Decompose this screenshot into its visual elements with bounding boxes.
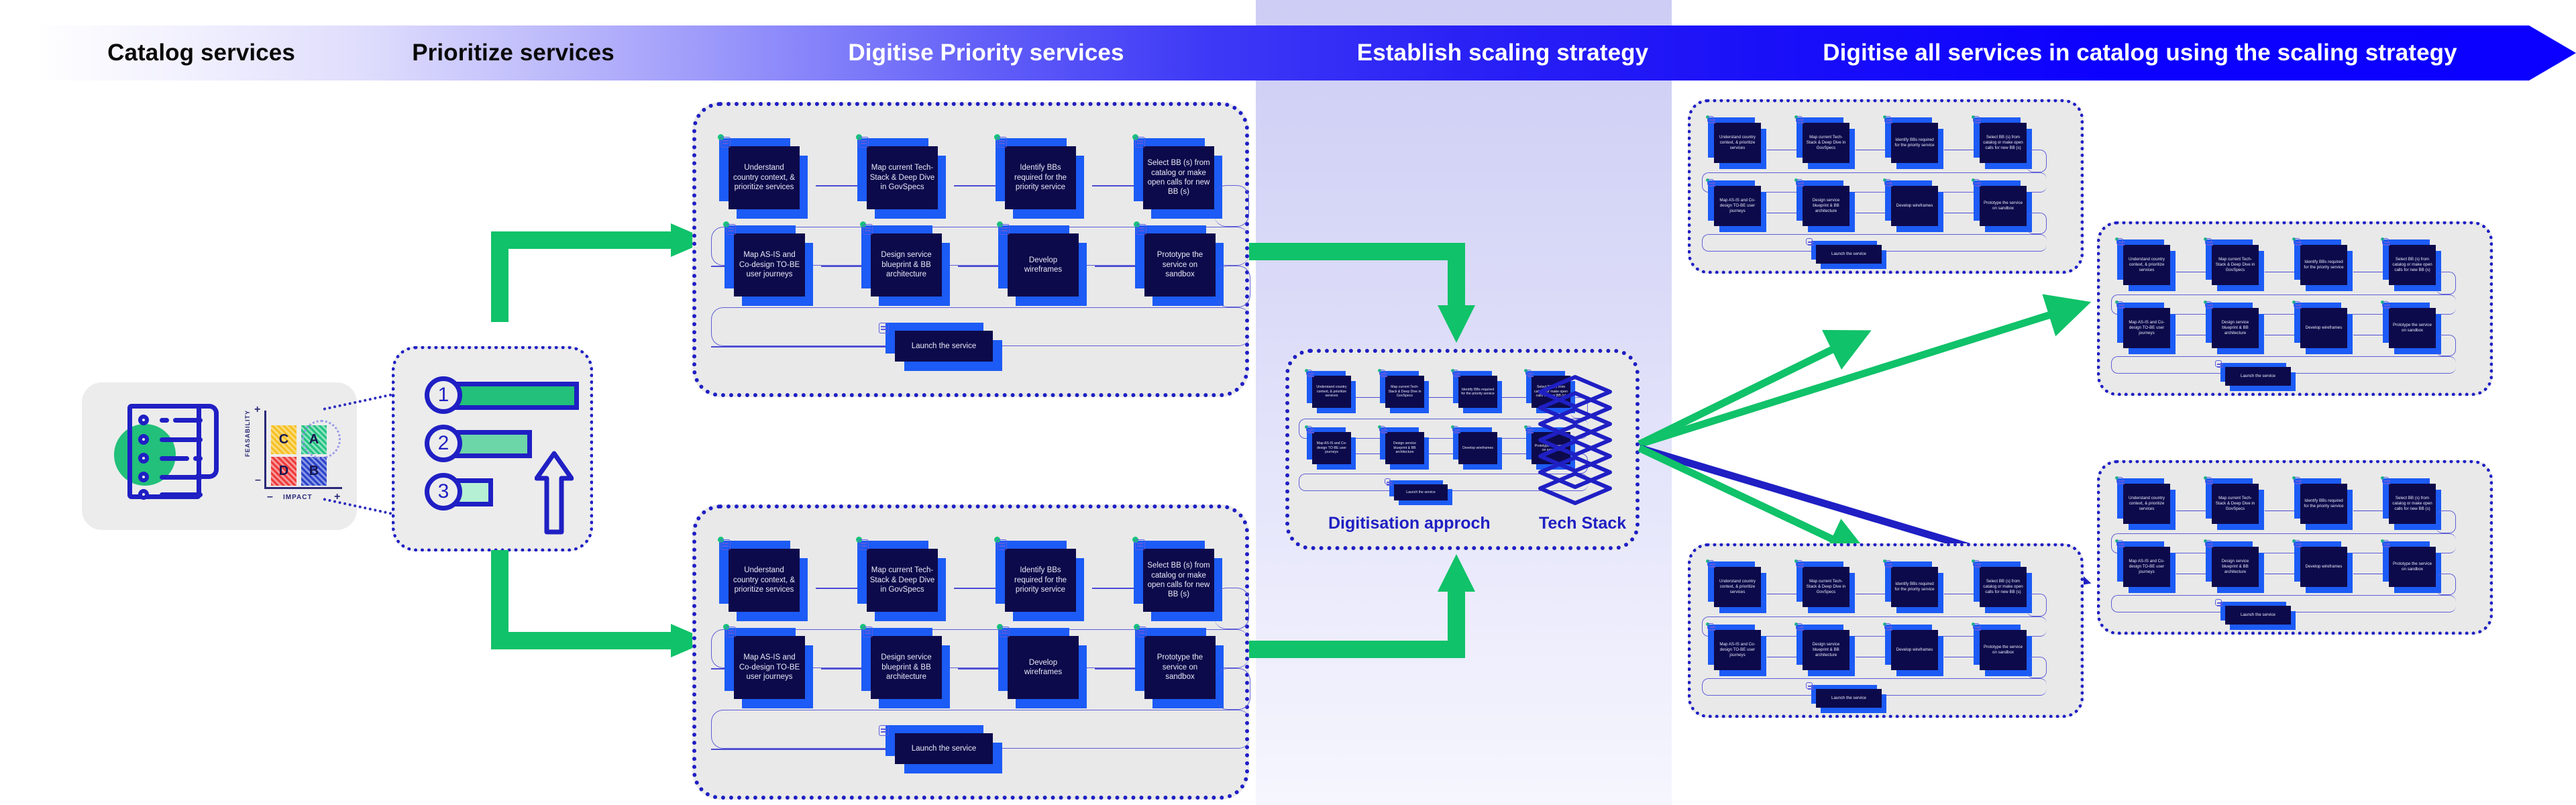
tech-stack-icon [1535,373,1615,507]
flow-step-label: Launch the service [895,733,993,764]
document-list-icon [718,535,733,551]
sandbox-icon [1972,177,1981,186]
mini-flow-connector [2353,272,2387,272]
hand-select-icon [1132,535,1147,551]
green-arrow-to-scaling-bot-h [1249,641,1465,658]
compass-icon [1794,558,1804,568]
diagram-canvas: Catalog services Prioritize services Dig… [0,0,2576,805]
mini-flow-step-label: Identify BBs required for the priority s… [1458,376,1497,408]
flow-panel-top: Understand country context, & prioritize… [692,102,1249,397]
magnifier-icon [2292,475,2302,484]
digitisation-approach-label: Digitisation approch [1328,514,1491,533]
checklist-line [160,475,203,480]
mini-flow-step-label: Design service blueprint & BB architectu… [1803,186,1849,226]
mini-flow-connector [1856,594,1889,594]
mini-flow-connector [2176,272,2210,272]
mini-flow-step-label: Select BB (s) from catalog or make open … [1980,567,2027,607]
scaled-flow-panel-3: Understand country context, & prioritize… [2097,460,2493,635]
priority-up-arrow-icon [535,450,574,536]
magnifier-icon [994,535,1009,551]
mini-flow-connector [2176,511,2210,511]
compass-icon [856,133,871,149]
flow-connector [711,749,892,750]
flow-step-label: Select BB (s) from catalog or make open … [1143,146,1214,209]
checklist-bullet-icon [138,453,149,464]
mini-flow-step-label: Understand country context, & prioritize… [1714,567,1761,607]
flow-panel-bottom: Understand country context, & prioritize… [692,504,1249,800]
checklist-row [91,475,145,480]
magnifier-icon [1883,558,1892,568]
blueprint-icon [860,623,875,639]
wireframe-icon [1883,621,1892,631]
hand-select-icon [1972,114,1981,123]
mini-flow-step-label: Identify BBs required for the priority s… [2300,245,2347,285]
mini-flow-step-label: Understand country context, & prioritize… [2123,484,2170,524]
document-list-icon [1706,114,1715,123]
banner-segment-catalog[interactable]: Catalog services [40,25,362,80]
mini-flow-step-label: Develop wireframes [1891,186,1938,226]
blueprint-icon [2204,538,2213,547]
mini-flow-connector [1856,150,1889,150]
wireframe-icon [2292,299,2302,309]
user-journey-icon [1706,177,1715,186]
user-journey-icon [2115,299,2125,309]
mini-flow-step-label: Identify BBs required for the priority s… [1891,123,1938,163]
mini-flow-step-label: Develop wireframes [1891,630,1938,670]
mini-flow-step-label: Launch the service [2225,367,2291,386]
checklist-bullet-icon [138,434,149,445]
mini-flow-connector [2265,335,2298,335]
priority-bar-2 [451,430,532,458]
banner-segment-digitise-priority[interactable]: Digitise Priority services [684,25,1288,80]
mini-flow-connector [1767,657,1801,657]
sandbox-icon [2381,538,2390,547]
wireframe-icon [1451,424,1460,433]
compass-icon [2204,236,2213,246]
flow-step-label: Design service blueprint & BB architectu… [871,636,942,699]
checklist-line [193,456,203,461]
mini-flow-step-label: Launch the service [1816,245,1882,264]
mini-flow-connector [1767,594,1801,594]
hand-select-icon [2381,475,2390,484]
scaled-flow-panel-4: Understand country context, & prioritize… [1688,543,2084,718]
flow-step-label: Understand country context, & prioritize… [729,549,800,612]
hand-select-icon [1524,368,1533,376]
checklist-line [160,437,203,442]
hand-select-icon [2381,236,2390,246]
checklist-row [91,437,145,442]
fanout-arrow-green-1 [1640,338,1856,444]
green-arrow-to-scaling-bot-head [1438,554,1475,592]
mini-uturn-right [2436,272,2456,294]
flow-step-label: Map current Tech-Stack & Deep Dive in Go… [867,549,938,612]
flow-uturn-right [1214,588,1249,629]
sandbox-icon [1972,621,1981,631]
impact-feasibility-matrix: + – – + FEASABILITY IMPACT C A D B [236,407,343,507]
mini-flow-step-label: Identify BBs required for the priority s… [2300,484,2347,524]
flow-step-label: Understand country context, & prioritize… [729,146,800,209]
rocket-icon [1385,478,1392,486]
document-list-icon [1706,558,1715,568]
magnifier-icon [1451,368,1460,376]
mini-flow-step-label: Prototype the service on sandbox [2389,308,2436,348]
rocket-icon [2215,599,2223,607]
blueprint-icon [1794,177,1804,186]
mini-flow-connector [2176,335,2210,335]
mini-flow-connector [1944,594,1978,594]
scaled-flow-panel-1: Understand country context, & prioritize… [1688,99,2084,274]
banner-segment-establish-scaling[interactable]: Establish scaling strategy [1268,25,1737,80]
flow-step-label: Select BB (s) from catalog or make open … [1143,549,1214,612]
matrix-y-plus: + [254,404,260,416]
mini-flow-step-label: Launch the service [1394,484,1448,500]
mini-flow-step-label: Understand country context, & prioritize… [1714,123,1761,163]
mini-flow-connector [2265,574,2298,574]
mini-flow-step-label: Map current Tech-Stack & Deep Dive in Go… [2212,245,2259,285]
mini-flow-connector [2265,511,2298,511]
flow-step-label: Launch the service [895,331,993,362]
hand-select-icon [1972,558,1981,568]
mini-uturn-right-2 [2027,213,2047,234]
mini-uturn-right-2 [2436,574,2456,595]
flow-step-label: Prototype the service on sandbox [1144,636,1216,699]
banner-label-digitise-priority: Digitise Priority services [848,40,1124,66]
banner-label-prioritize: Prioritize services [412,40,614,66]
blueprint-icon [1378,424,1387,433]
green-arrow-up-horizontal [491,231,672,249]
mini-flow-step-label: Map current Tech-Stack & Deep Dive in Go… [1803,123,1849,163]
matrix-quadrant-d: D [271,457,297,486]
green-arrow-to-scaling-bot-v [1448,590,1465,658]
mini-uturn-right [2436,511,2456,533]
mini-flow-connector [2265,272,2298,272]
mini-flow-step-label: Design service blueprint & BB architectu… [1385,432,1424,464]
blueprint-icon [860,220,875,236]
mini-flow-step-label: Map AS-IS and Co-design TO-BE user journ… [1714,186,1761,226]
mini-flow-step-label: Select BB (s) from catalog or make open … [2389,484,2436,524]
compass-icon [856,535,871,551]
mini-flow-step-label: Map AS-IS and Co-design TO-BE user journ… [1714,630,1761,670]
mini-flow-step-label: Design service blueprint & BB architectu… [2212,547,2259,587]
magnifier-icon [1883,114,1892,123]
mini-flow-connector [2353,335,2387,335]
mini-flow-connector [1767,150,1801,150]
checklist-line [160,492,203,497]
rocket-icon [2215,360,2223,368]
prioritized-services-panel: 1 2 3 [392,346,593,551]
fanout-arrow-green-2 [1640,307,2074,444]
mini-flow-step-label: Prototype the service on sandbox [1980,630,2027,670]
green-arrow-to-scaling-top-h [1249,243,1465,260]
banner-label-catalog: Catalog services [107,40,295,66]
user-journey-icon [1706,621,1715,631]
mini-flow-step-label: Understand country context, & prioritize… [1312,376,1351,408]
matrix-y-axis [264,411,266,488]
matrix-highlight-circle-icon [302,420,341,459]
checklist-bullet-icon [138,472,149,482]
checklist-line [160,418,169,423]
mini-uturn-right-2 [2436,335,2456,356]
flow-step-label: Prototype the service on sandbox [1144,233,1216,297]
user-journey-icon [1305,424,1313,433]
banner-segment-digitise-all[interactable]: Digitise all services in catalog using t… [1744,25,2536,80]
matrix-x-minus: – [267,491,273,503]
matrix-x-axis [264,487,342,489]
flow-connector [711,346,892,347]
mini-flow-step-label: Map current Tech-Stack & Deep Dive in Go… [1803,567,1849,607]
compass-icon [1378,368,1387,376]
flow-step-label: Identify BBs required for the priority s… [1005,146,1076,209]
green-arrow-to-scaling-top-head [1438,305,1475,343]
mini-flow-step-label: Identify BBs required for the priority s… [1891,567,1938,607]
phase-banner: Catalog services Prioritize services Dig… [40,25,2576,80]
mini-flow-step-label: Prototype the service on sandbox [2389,547,2436,587]
matrix-quadrant-c: C [271,425,297,454]
checklist-bullet-icon [138,415,149,425]
flow-uturn-right [1214,185,1249,227]
checklist-row [91,456,145,461]
flow-step-label: Map AS-IS and Co-design TO-BE user journ… [734,233,805,297]
flow-uturn-right-2 [1216,668,1250,710]
mini-flow-connector [1944,150,1978,150]
mini-flow-step-label: Launch the service [1816,689,1882,708]
compass-icon [2204,475,2213,484]
rocket-icon [876,721,891,737]
matrix-y-minus: – [255,474,261,486]
mini-flow-connector [2176,574,2210,574]
rocket-icon [1806,238,1814,246]
compass-icon [1794,114,1804,123]
mini-flow-step-label: Develop wireframes [2300,547,2347,587]
fanout-arrow-green-3 [1640,448,1856,550]
document-list-icon [2115,475,2125,484]
mini-flow-step-label: Map current Tech-Stack & Deep Dive in Go… [2212,484,2259,524]
mini-flow-connector [1856,657,1889,657]
banner-label-establish-scaling: Establish scaling strategy [1357,40,1648,66]
checklist-line [173,418,203,423]
sandbox-icon [1134,623,1148,639]
priority-bar-1 [451,382,579,410]
mini-uturn-right [2027,150,2047,172]
green-arrow-down-horizontal [491,632,672,649]
matrix-quadrant-b: B [301,457,327,486]
checklist-bullet-icon [138,489,149,500]
wireframe-icon [997,220,1012,236]
priority-number-3: 3 [425,473,462,511]
flow-step-label: Map AS-IS and Co-design TO-BE user journ… [734,636,805,699]
green-arrow-to-scaling-top-v [1448,243,1465,310]
tech-stack-label: Tech Stack [1539,514,1626,533]
hand-select-icon [1132,133,1147,149]
checklist-row [91,492,145,497]
mini-flow-connector [2353,574,2387,574]
user-journey-icon [723,220,738,236]
flow-step-label: Map current Tech-Stack & Deep Dive in Go… [867,146,938,209]
catalog-illustration-card: + – – + FEASABILITY IMPACT C A D B [82,382,357,530]
wireframe-icon [1883,177,1892,186]
user-journey-icon [723,623,738,639]
mini-flow-step-label: Select BB (s) from catalog or make open … [1980,123,2027,163]
document-list-icon [2115,236,2125,246]
scaled-flow-panel-2: Understand country context, & prioritize… [2097,221,2493,396]
flow-uturn-right-2 [1216,266,1250,307]
mini-flow-step-label: Map AS-IS and Co-design TO-BE user journ… [1312,432,1351,464]
mini-flow-connector [1944,213,1978,213]
mini-flow-step-label: Prototype the service on sandbox [1980,186,2027,226]
blueprint-icon [2204,299,2213,309]
sandbox-icon [2381,299,2390,309]
rocket-icon [876,319,891,335]
mini-flow-step-label: Design service blueprint & BB architectu… [2212,308,2259,348]
flow-step-label: Develop wireframes [1008,636,1079,699]
sandbox-icon [1134,220,1148,236]
matrix-y-axis-label: FEASABILITY [244,407,251,460]
flow-step-label: Identify BBs required for the priority s… [1005,549,1076,612]
mini-flow-step-label: Map current Tech-Stack & Deep Dive in Go… [1385,376,1424,408]
rocket-icon [1806,682,1814,690]
mini-flow-step-label: Map AS-IS and Co-design TO-BE user journ… [2123,547,2170,587]
mini-flow-connector [1944,657,1978,657]
mini-flow-step-label: Select BB (s) from catalog or make open … [2389,245,2436,285]
mini-flow-step-label: Map AS-IS and Co-design TO-BE user journ… [2123,308,2170,348]
flow-step-label: Develop wireframes [1008,233,1079,297]
priority-number-1: 1 [425,376,462,414]
banner-label-digitise-all: Digitise all services in catalog using t… [1823,40,2457,66]
mini-flow-step-label: Develop wireframes [1458,432,1497,464]
document-list-icon [1305,368,1313,376]
blueprint-icon [1794,621,1804,631]
scaling-strategy-panel: Understand country context, & prioritize… [1285,349,1640,550]
mini-flow-connector [2353,511,2387,511]
user-journey-icon [2115,538,2125,547]
wireframe-icon [997,623,1012,639]
banner-segment-prioritize[interactable]: Prioritize services [369,25,657,80]
wireframe-icon [2292,538,2302,547]
mini-uturn-right [2027,594,2047,616]
sandbox-icon [1524,424,1533,433]
mini-flow-step-label: Design service blueprint & BB architectu… [1803,630,1849,670]
mini-flow-connector [1856,213,1889,213]
flow-step-label: Design service blueprint & BB architectu… [871,233,942,297]
mini-flow-connector [1767,213,1801,213]
checklist-line [160,456,189,461]
mini-flow-step-label: Understand country context, & prioritize… [2123,245,2170,285]
mini-flow-step-label: Develop wireframes [2300,308,2347,348]
checklist-row [91,418,145,423]
mini-uturn-right-2 [2027,657,2047,678]
document-list-icon [718,133,733,149]
matrix-x-axis-label: IMPACT [283,494,313,501]
mini-flow-step-label: Launch the service [2225,606,2291,625]
magnifier-icon [994,133,1009,149]
magnifier-icon [2292,236,2302,246]
priority-number-2: 2 [425,425,462,462]
